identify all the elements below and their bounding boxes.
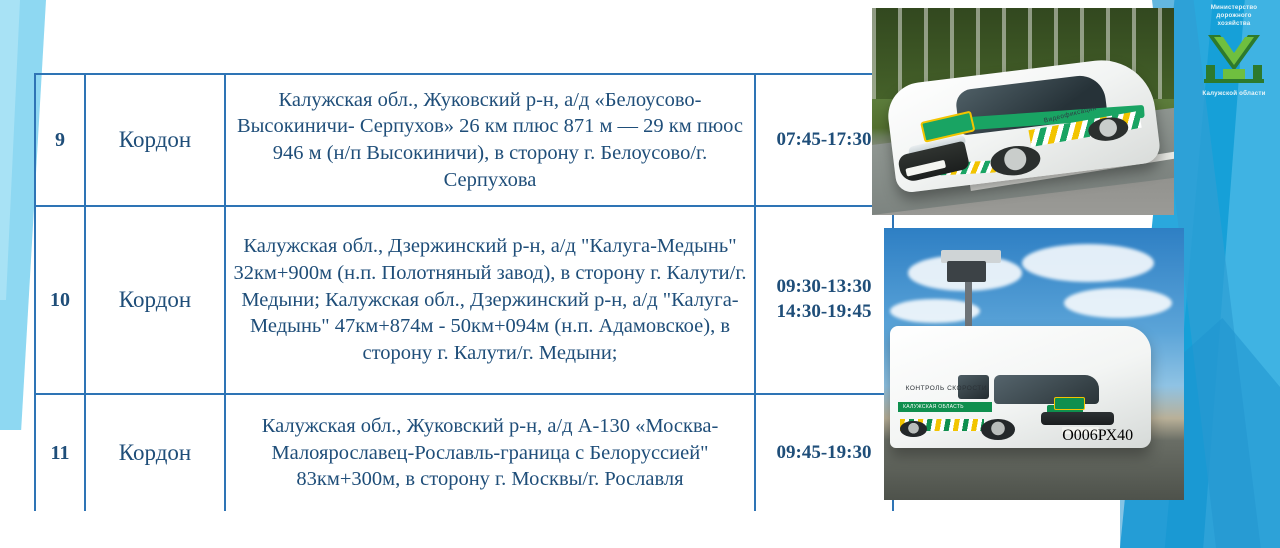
location-description-cell: Калужская обл., Жуковский р-н, а/д А-130… [225,394,755,511]
table-row: 9 Кордон Калужская обл., Жуковский р-н, … [35,74,893,206]
speed-van-grille [1041,412,1114,425]
ministry-logo-title-line2: дорожного [1196,12,1272,20]
working-hours-cell: 09:45-19:30 [755,394,893,511]
speed-van-region-caption: КАЛУЖСКАЯ ОБЛАСТЬ [903,404,964,410]
cloud-shape [1064,288,1172,318]
table-row: 11 Кордон Калужская обл., Жуковский р-н,… [35,394,893,511]
ministry-chevron-emblem-icon [1196,29,1272,89]
patrol-car-front-wheel [989,144,1043,179]
row-number-cell: 10 [35,206,85,394]
speed-van-body: О006РХ40 КОНТРОЛЬ СКОРОСТИ КАЛУЖСКАЯ ОБЛ… [890,326,1151,448]
photo-ground-surface [884,440,1184,500]
speed-van-rear-wheel [900,421,926,437]
ministry-logo-title-line3: хозяйства [1196,20,1272,28]
speed-van-front-wheel [981,419,1015,440]
photo-patrol-car: Видеофиксация [872,8,1174,215]
ministry-logo: Министерство дорожного хозяйства Калужск… [1196,4,1272,106]
complex-type-cell: Кордон [85,206,225,394]
complex-type-cell: Кордон [85,394,225,511]
speed-camera-icon [947,261,986,283]
working-hours-cell: 09:30-13:30 14:30-19:45 [755,206,893,394]
row-number-cell: 9 [35,74,85,206]
photo-speed-control-van: О006РХ40 КОНТРОЛЬ СКОРОСТИ КАЛУЖСКАЯ ОБЛ… [884,228,1184,500]
ministry-logo-title: Министерство дорожного хозяйства [1196,4,1272,28]
speed-van-caption: КОНТРОЛЬ СКОРОСТИ [906,385,987,392]
table-row: 10 Кордон Калужская обл., Дзержинский р-… [35,206,893,394]
ministry-logo-subtitle: Калужской области [1196,90,1272,97]
row-number-cell: 11 [35,394,85,511]
cordon-locations-table: 9 Кордон Калужская обл., Жуковский р-н, … [34,73,894,511]
speed-van-emblem [1054,397,1085,410]
location-description-cell: Калужская обл., Жуковский р-н, а/д «Бело… [225,74,755,206]
ministry-logo-title-line1: Министерство [1196,4,1272,12]
location-description-cell: Калужская обл., Дзержинский р-н, а/д "Ка… [225,206,755,394]
complex-type-cell: Кордон [85,74,225,206]
speed-van-license-plate: О006РХ40 [1062,427,1099,433]
table-body: 9 Кордон Калужская обл., Жуковский р-н, … [35,74,893,511]
